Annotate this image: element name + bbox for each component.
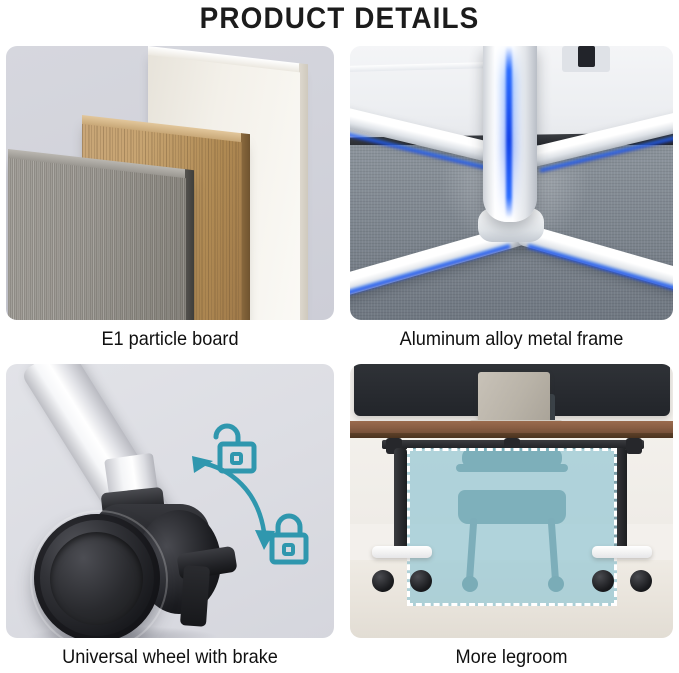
desk-foot-right xyxy=(592,546,652,596)
white-board-side-edge xyxy=(299,63,308,320)
gray-board-face xyxy=(8,158,186,320)
more-legroom-photo xyxy=(350,364,673,638)
desk-foot-bar-right xyxy=(592,546,652,558)
frame-wall-seam xyxy=(350,62,488,72)
caption-universal-wheel: Universal wheel with brake xyxy=(17,646,322,669)
caption-more-legroom: More legroom xyxy=(361,646,661,669)
wall-socket xyxy=(562,46,610,72)
desk-caster-back-right xyxy=(630,570,652,592)
frame-center-column xyxy=(483,46,537,222)
lock-icon xyxy=(272,516,306,562)
desk-caster-front-left xyxy=(372,570,394,592)
page-title: PRODUCT DETAILS xyxy=(24,2,655,36)
desk-caster-front-right xyxy=(592,570,614,592)
product-details-page: PRODUCT DETAILS xyxy=(0,0,679,673)
column-led-strip xyxy=(506,46,512,218)
universal-wheel-photo xyxy=(6,364,334,638)
desk-caster-back-left xyxy=(410,570,432,592)
legroom-highlight-area xyxy=(407,448,617,606)
desk-bracket-right xyxy=(626,438,642,454)
lock-indicator-group xyxy=(6,364,334,638)
gray-board-side-edge xyxy=(185,169,194,320)
oak-board-side-edge xyxy=(241,133,250,320)
laptop xyxy=(478,372,550,424)
particle-board-photo xyxy=(6,46,334,320)
desk-foot-bar-left xyxy=(372,546,432,558)
caption-metal-frame: Aluminum alloy metal frame xyxy=(361,328,661,351)
gray-board xyxy=(8,158,186,320)
desk-leg-post-left xyxy=(394,448,407,556)
caption-particle-board: E1 particle board xyxy=(17,328,322,351)
desk-foot-left xyxy=(372,546,432,596)
unlock-icon xyxy=(216,426,254,471)
metal-frame-photo xyxy=(350,46,673,320)
